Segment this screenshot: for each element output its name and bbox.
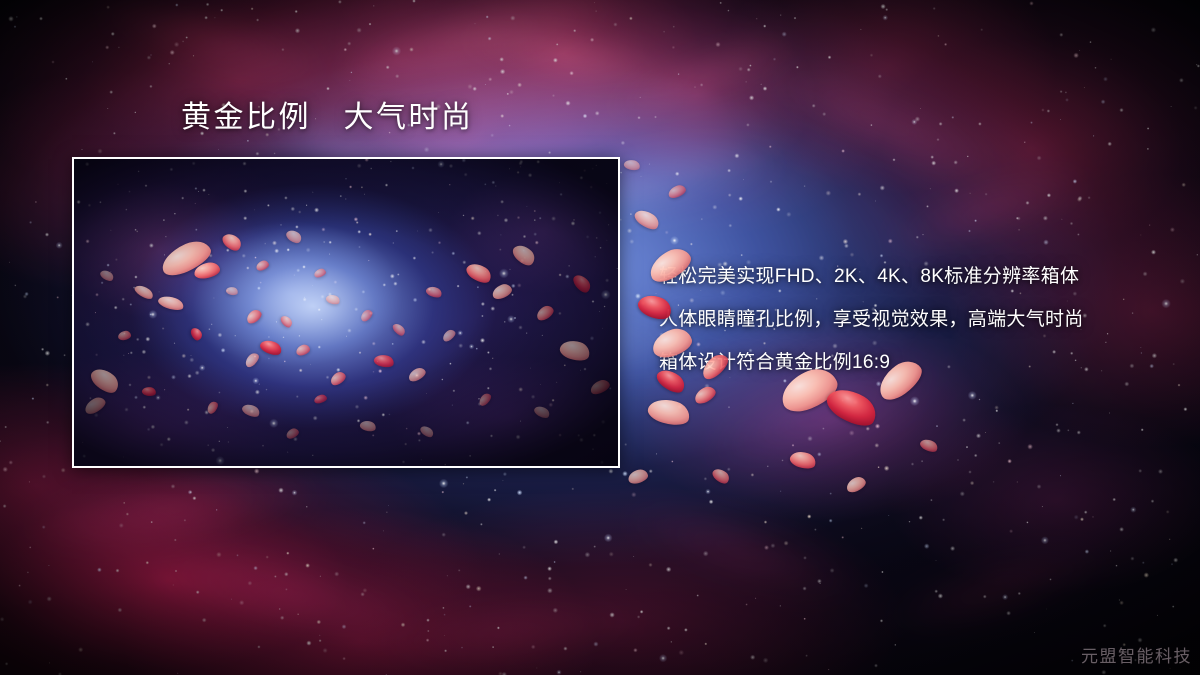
feature-line-1: 轻松完美实现FHD、2K、4K、8K标准分辨率箱体 <box>659 255 1189 298</box>
nebula-filament <box>876 529 1114 650</box>
flower-petal <box>788 448 818 471</box>
flower-petal <box>822 381 882 433</box>
feature-line-3: 箱体设计符合黄金比例16:9 <box>659 341 1189 384</box>
flower-petal <box>844 474 868 494</box>
nebula-filament <box>86 0 333 102</box>
product-image-frame <box>72 157 620 468</box>
flower-petal <box>646 395 693 430</box>
nebula-filament <box>326 0 615 107</box>
nebula-filament <box>457 10 693 103</box>
slide-title: 黄金比例 大气时尚 <box>181 99 474 137</box>
presentation-slide: 黄金比例 大气时尚 轻松完美实现FHD、2K、4K、8K标准分辨率箱体 人体眼睛… <box>0 0 1200 675</box>
flower-petal <box>710 466 732 487</box>
flower-petal <box>623 158 641 172</box>
product-image <box>74 159 618 466</box>
nebula-filament <box>377 587 642 675</box>
nebula-filament <box>616 484 863 617</box>
nebula-filament <box>597 16 812 137</box>
nebula-filament <box>876 147 1104 272</box>
feature-line-2: 人体眼睛瞳孔比例，享受视觉效果，高端大气时尚 <box>659 298 1189 341</box>
nebula-filament <box>146 532 434 659</box>
flower-petal <box>918 437 939 455</box>
flower-petal <box>667 183 688 199</box>
product-image-vignette <box>74 159 618 466</box>
flower-petal <box>632 206 662 233</box>
nebula-filament <box>757 42 1012 204</box>
feature-description: 轻松完美实现FHD、2K、4K、8K标准分辨率箱体 人体眼睛瞳孔比例，享受视觉效… <box>659 255 1189 384</box>
company-watermark: 元盟智能科技 <box>1081 642 1192 667</box>
flower-petal <box>692 384 718 406</box>
flower-petal <box>627 468 650 485</box>
